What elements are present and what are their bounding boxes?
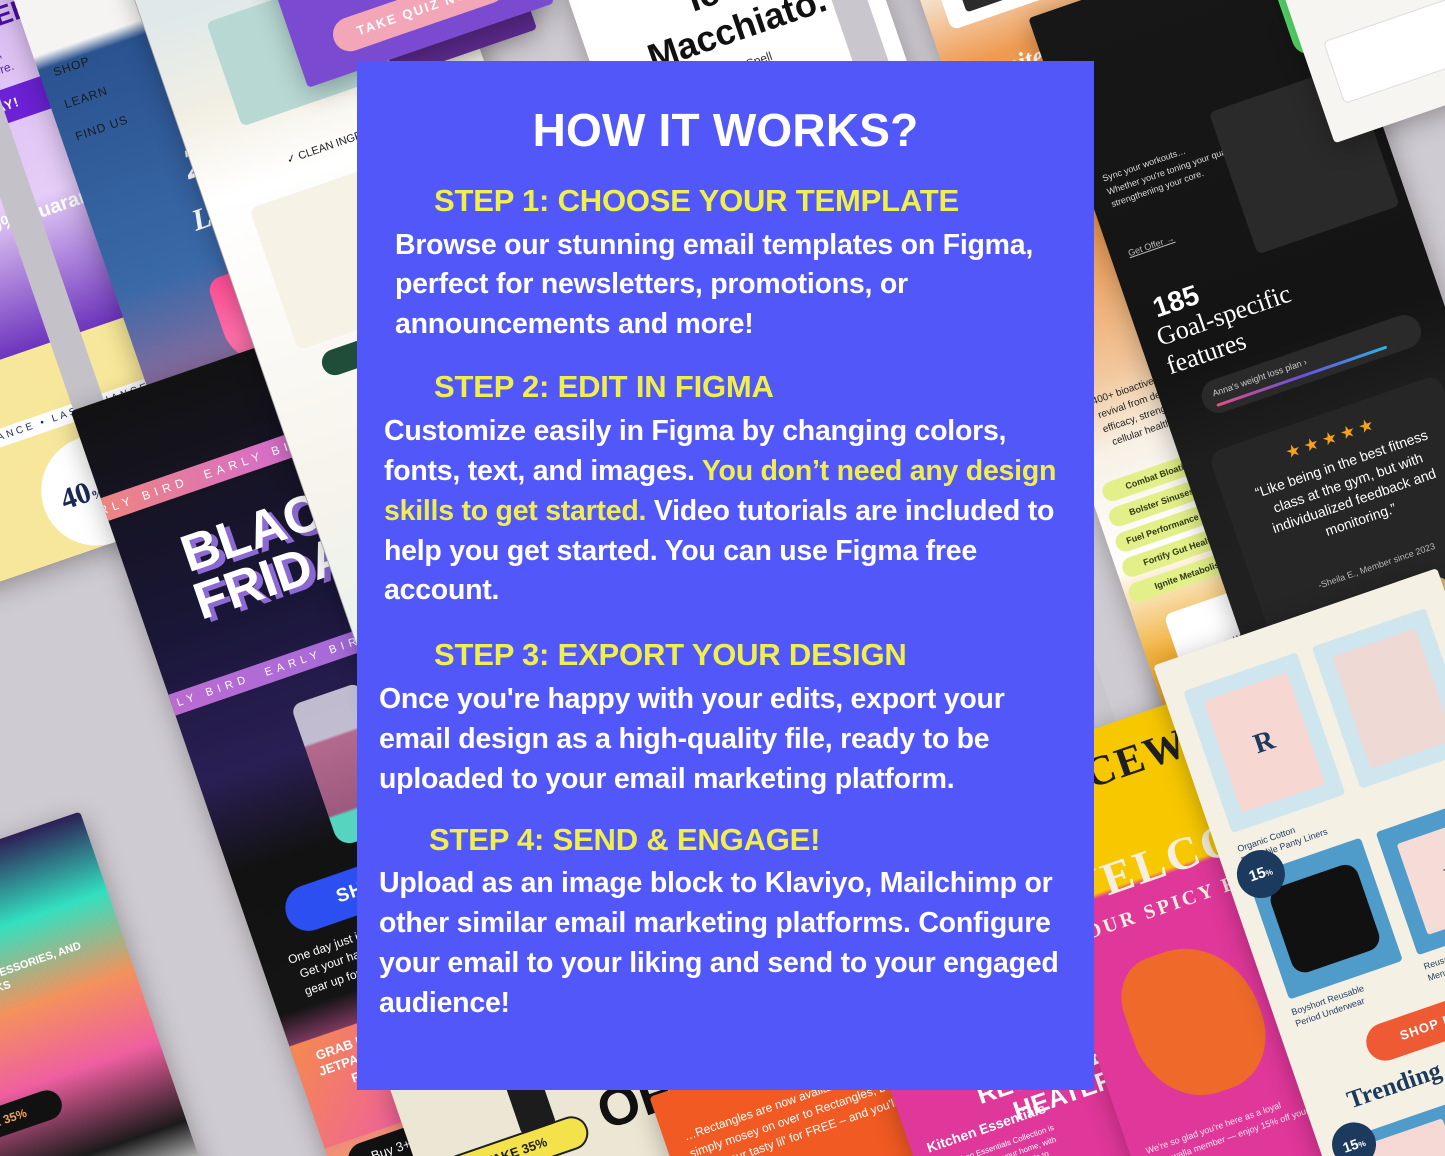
collage-tile-bottomleft: GRAB BLENDJETS, ACCESSORIES, AND JETPACK… xyxy=(0,812,204,1156)
screenshot-root: GRAIN-FREEGLUTEN-FREE No corn, wheat, ri… xyxy=(0,0,1445,1156)
step-1-body: Browse our stunning email templates on F… xyxy=(379,226,1072,346)
step-4-heading: STEP 4: SEND & ENGAGE! xyxy=(429,822,1072,859)
how-it-works-card: HOW IT WORKS? STEP 1: CHOOSE YOUR TEMPLA… xyxy=(357,61,1094,1090)
step-2-body: Customize easily in Figma by changing co… xyxy=(379,412,1072,611)
step-4-body: Upload as an image block to Klaviyo, Mai… xyxy=(379,864,1072,1024)
step-2-heading: STEP 2: EDIT IN FIGMA xyxy=(434,369,1072,406)
step-1: STEP 1: CHOOSE YOUR TEMPLATE Browse our … xyxy=(379,183,1072,345)
step-4: STEP 4: SEND & ENGAGE! Upload as an imag… xyxy=(379,822,1072,1024)
page-title: HOW IT WORKS? xyxy=(379,103,1072,157)
step-3: STEP 3: EXPORT YOUR DESIGN Once you're h… xyxy=(379,637,1072,799)
step-3-heading: STEP 3: EXPORT YOUR DESIGN xyxy=(434,637,1072,674)
step-2: STEP 2: EDIT IN FIGMA Customize easily i… xyxy=(379,369,1072,611)
step-1-heading: STEP 1: CHOOSE YOUR TEMPLATE xyxy=(434,183,1072,220)
step-3-body: Once you're happy with your edits, expor… xyxy=(379,680,1072,800)
